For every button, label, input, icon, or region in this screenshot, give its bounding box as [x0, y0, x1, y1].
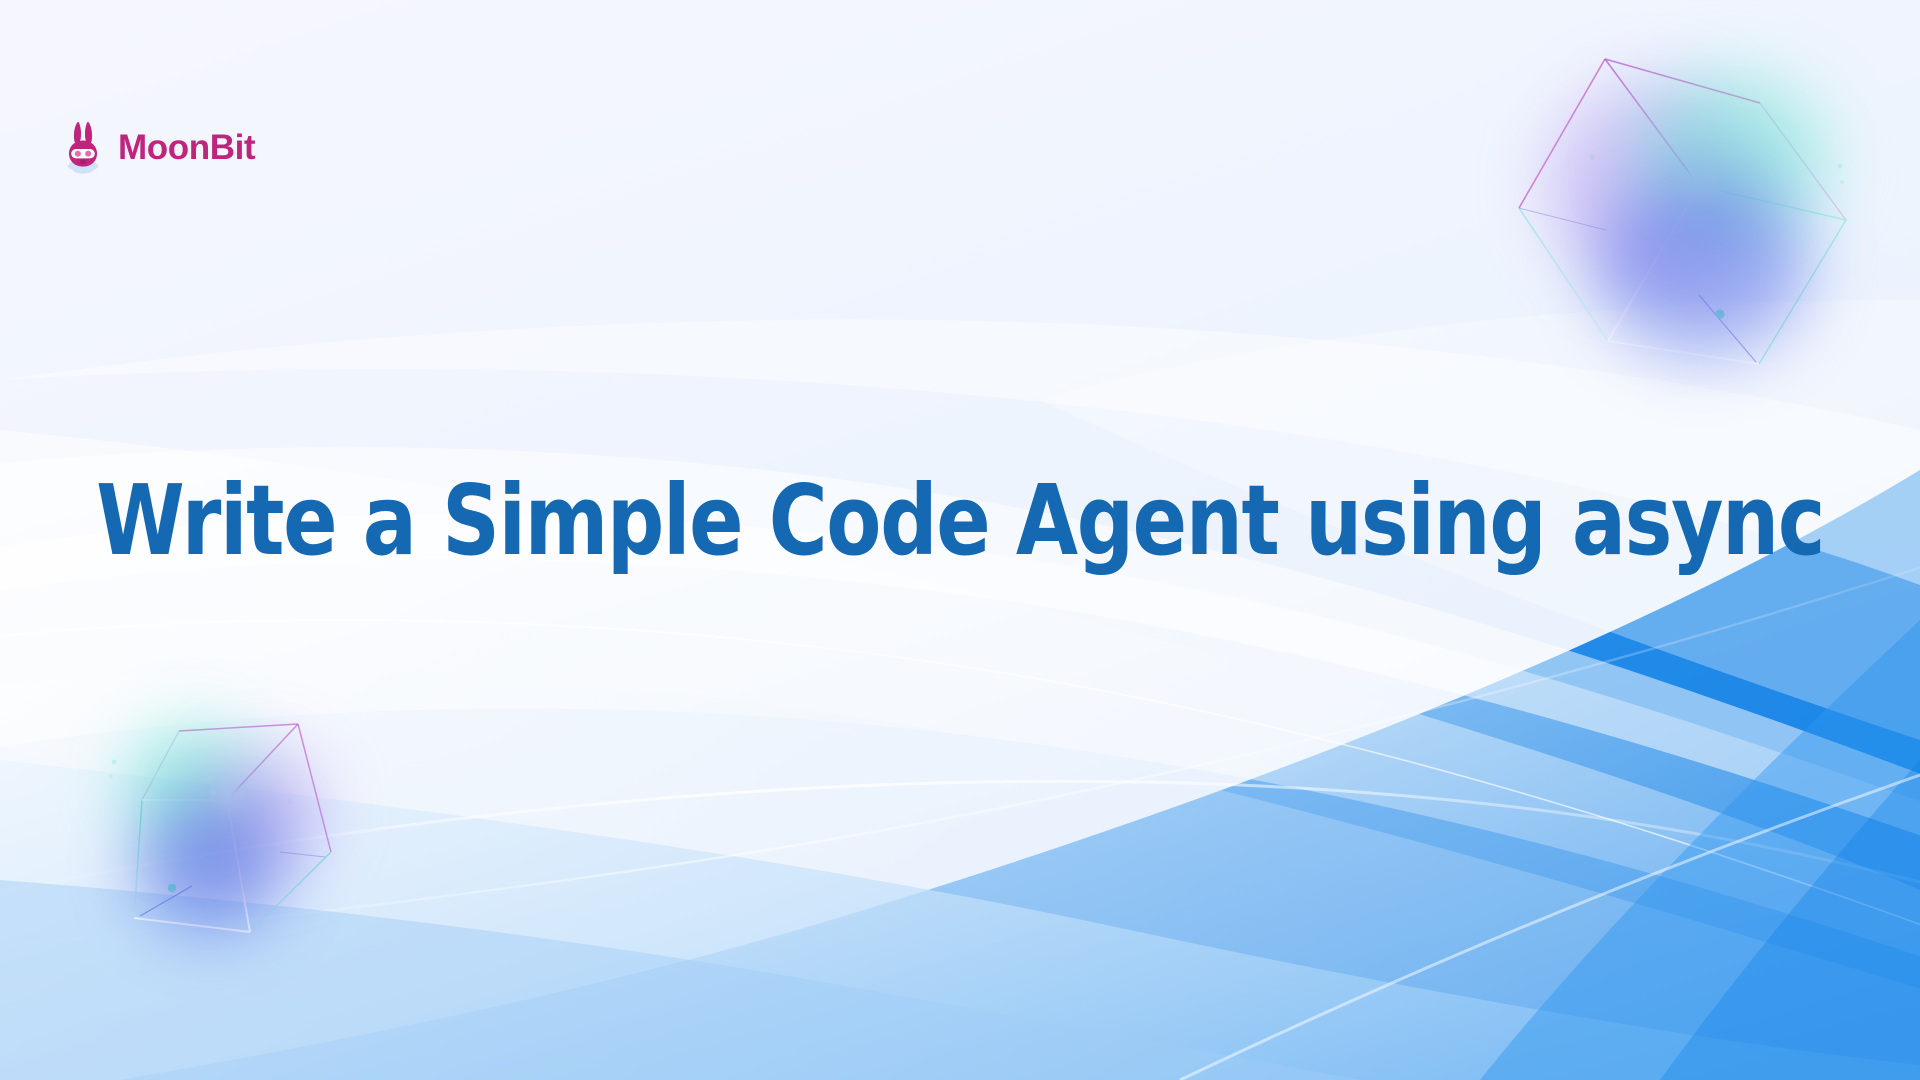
purple-orb: [202, 750, 322, 870]
decorative-cube-bottom-left: [72, 700, 372, 960]
moonbit-rabbit-mascot-icon: [62, 120, 104, 174]
decorative-cube-top-right: [1488, 40, 1920, 385]
brand-name: MoonBit: [118, 130, 255, 165]
teal-orb: [1638, 75, 1828, 245]
purple-orb: [1548, 85, 1758, 285]
brand-logo[interactable]: MoonBit: [62, 120, 255, 174]
page-title: Write a Simple Code Agent using async: [0, 445, 1920, 595]
slide-canvas: MoonBit: [0, 0, 1920, 1080]
teal-orb: [127, 728, 257, 848]
blue-orb: [1598, 175, 1808, 355]
page-title-text: Write a Simple Code Agent using async: [96, 472, 1824, 569]
blue-orb: [137, 800, 282, 930]
